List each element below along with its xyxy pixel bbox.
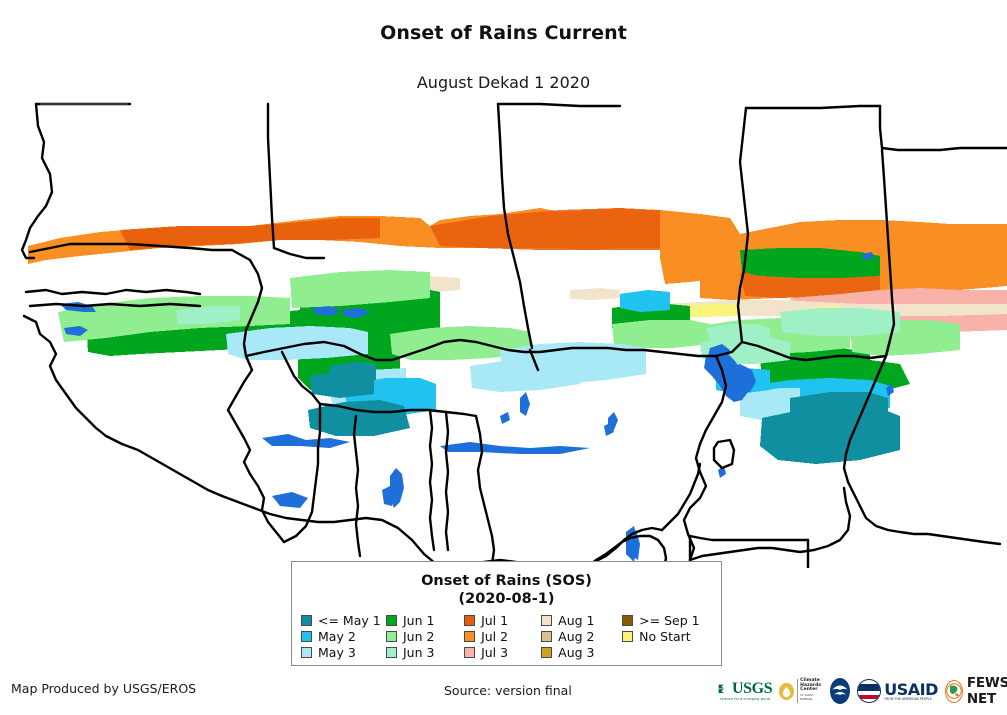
legend-swatch-jul2 <box>464 631 475 642</box>
band-jun2-niger <box>612 320 710 348</box>
legend-label-jun2: Jun 2 <box>403 630 434 643</box>
legend-swatch-may3 <box>301 647 312 658</box>
legend-item-gte-sep1[interactable]: >= Sep 1 <box>622 613 721 628</box>
chc-droplet-icon <box>779 683 794 700</box>
noaa-seagull-icon <box>830 681 850 701</box>
legend-title: Onset of Rains (SOS) <box>292 572 721 590</box>
globe-icon <box>946 683 962 699</box>
chc-line-3: Center <box>800 688 823 693</box>
legend-swatch-jun3 <box>386 647 397 658</box>
legend-label-no-start: No Start <box>639 630 691 643</box>
legend-item-may2[interactable]: May 2 <box>301 629 386 644</box>
legend-swatch-lte-may1 <box>301 615 312 626</box>
chc-tagline: UC SANTA BARBARA <box>800 694 823 703</box>
legend-column-jul: Jul 1 Jul 2 Jul 3 <box>464 613 541 660</box>
legend-column-may: <= May 1 May 2 May 3 <box>301 613 386 660</box>
legend-swatch-jun2 <box>386 631 397 642</box>
page-subtitle: August Dekad 1 2020 <box>0 73 1007 92</box>
legend-label-jun3: Jun 3 <box>403 646 434 659</box>
usaid-logo: USAID FROM THE AMERICAN PEOPLE <box>857 679 938 703</box>
footer-logos: USGS science for a changing world Climat… <box>718 673 1007 709</box>
noaa-logo <box>830 678 850 704</box>
legend-label-lte-may1: <= May 1 <box>318 614 381 627</box>
legend-column-aug: Aug 1 Aug 2 Aug 3 <box>541 613 622 660</box>
legend-column-sep: >= Sep 1 No Start <box>622 613 721 660</box>
legend-swatch-aug2 <box>541 631 552 642</box>
legend-item-jun1[interactable]: Jun 1 <box>386 613 464 628</box>
legend-label-aug2: Aug 2 <box>558 630 594 643</box>
legend-label-may2: May 2 <box>318 630 356 643</box>
usaid-tagline: FROM THE AMERICAN PEOPLE <box>884 697 938 701</box>
band-jun3-nigeria <box>706 324 770 346</box>
band-aug1-center <box>570 288 620 300</box>
legend-swatch-gte-sep1 <box>622 615 633 626</box>
legend-column-jun: Jun 1 Jun 2 Jun 3 <box>386 613 464 660</box>
usaid-wordmark: USAID <box>884 682 938 697</box>
legend-label-may3: May 3 <box>318 646 356 659</box>
legend-item-may3[interactable]: May 3 <box>301 645 386 660</box>
map-canvas[interactable] <box>0 98 1007 568</box>
band-jun3-chad <box>780 308 900 336</box>
footer-produced-by: Map Produced by USGS/EROS <box>11 681 196 696</box>
footer-source: Source: version final <box>444 683 572 698</box>
legend-swatch-may2 <box>301 631 312 642</box>
band-may2-niger3 <box>620 290 670 312</box>
legend-item-jul3[interactable]: Jul 3 <box>464 645 541 660</box>
legend-item-lte-may1[interactable]: <= May 1 <box>301 613 386 628</box>
legend-label-jul1: Jul 1 <box>481 614 508 627</box>
usgs-logo: USGS science for a changing world <box>718 681 772 701</box>
legend-swatch-jul1 <box>464 615 475 626</box>
usaid-seal-icon <box>857 679 881 703</box>
legend-item-aug3[interactable]: Aug 3 <box>541 645 622 660</box>
map-page: Onset of Rains Current August Dekad 1 20… <box>0 0 1007 715</box>
legend-label-aug1: Aug 1 <box>558 614 594 627</box>
legend-swatch-jun1 <box>386 615 397 626</box>
legend-item-aug1[interactable]: Aug 1 <box>541 613 622 628</box>
legend-label-jul2: Jul 2 <box>481 630 508 643</box>
fewsnet-logo: FEWS NET <box>945 675 1007 707</box>
legend-label-jun1: Jun 1 <box>403 614 434 627</box>
usgs-tagline: science for a changing world <box>720 697 770 701</box>
droplet-icon <box>782 686 791 697</box>
usgs-mark-icon <box>718 682 731 695</box>
legend-subtitle: (2020-08-1) <box>292 590 721 608</box>
page-title: Onset of Rains Current <box>0 22 1007 44</box>
legend-item-jun3[interactable]: Jun 3 <box>386 645 464 660</box>
fewsnet-globe-icon <box>945 680 963 703</box>
chc-logo: Climate Hazards Center UC SANTA BARBARA <box>779 679 823 703</box>
legend-item-jul2[interactable]: Jul 2 <box>464 629 541 644</box>
legend-item-no-start[interactable]: No Start <box>622 629 721 644</box>
legend-label-aug3: Aug 3 <box>558 646 594 659</box>
chc-text-block: Climate Hazards Center UC SANTA BARBARA <box>797 679 823 703</box>
band-lte-may1-west <box>330 362 376 384</box>
legend-item-aug2[interactable]: Aug 2 <box>541 629 622 644</box>
legend-item-jul1[interactable]: Jul 1 <box>464 613 541 628</box>
usgs-wordmark: USGS <box>732 681 772 696</box>
legend-swatch-no-start <box>622 631 633 642</box>
legend-columns: <= May 1 May 2 May 3 Jun 1 Ju <box>292 613 721 660</box>
legend-swatch-jul3 <box>464 647 475 658</box>
map-svg <box>0 98 1007 568</box>
legend-swatch-aug3 <box>541 647 552 658</box>
map-legend: Onset of Rains (SOS) (2020-08-1) <= May … <box>291 561 722 666</box>
legend-label-jul3: Jul 3 <box>481 646 508 659</box>
band-jun1-nigeria-ne <box>740 248 880 278</box>
legend-swatch-aug1 <box>541 615 552 626</box>
legend-item-jun2[interactable]: Jun 2 <box>386 629 464 644</box>
legend-label-gte-sep1: >= Sep 1 <box>639 614 699 627</box>
fewsnet-wordmark: FEWS NET <box>967 675 1007 707</box>
band-lte-may1-chad-s <box>790 392 888 430</box>
